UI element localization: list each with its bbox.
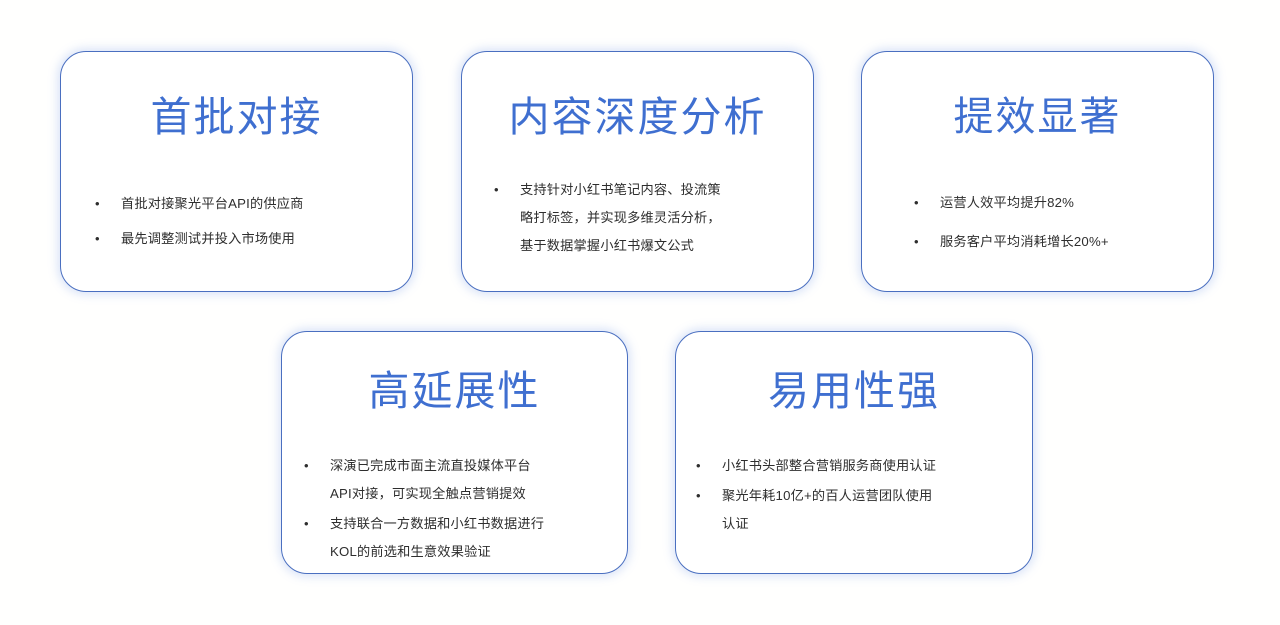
card-title: 首批对接 bbox=[151, 97, 323, 138]
feature-card-ease-of-use[interactable]: 易用性强 • 小红书头部整合营销服务商使用认证 • 聚光年耗10亿+的百人运营团… bbox=[675, 331, 1033, 574]
bullet-dot-icon: • bbox=[304, 510, 330, 538]
list-item-text: 首批对接聚光平台API的供应商 bbox=[121, 190, 412, 218]
bullet-dot-icon: • bbox=[914, 189, 940, 217]
list-item: • 聚光年耗10亿+的百人运营团队使用 认证 bbox=[696, 482, 1032, 538]
feature-card-first-integration[interactable]: 首批对接 • 首批对接聚光平台API的供应商 • 最先调整测试并投入市场使用 bbox=[60, 51, 413, 292]
list-item: • 小红书头部整合营销服务商使用认证 bbox=[696, 452, 1032, 480]
list-item-text: 深演已完成市面主流直投媒体平台 API对接，可实现全触点营销提效 bbox=[330, 452, 627, 508]
list-item-text: 运营人效平均提升82% bbox=[940, 189, 1213, 217]
list-item: • 支持联合一方数据和小红书数据进行 KOL的前选和生意效果验证 bbox=[304, 510, 627, 566]
list-item-text: 支持联合一方数据和小红书数据进行 KOL的前选和生意效果验证 bbox=[330, 510, 627, 566]
list-item: • 运营人效平均提升82% bbox=[914, 189, 1213, 217]
card-title: 提效显著 bbox=[954, 97, 1122, 137]
list-item-text: 最先调整测试并投入市场使用 bbox=[121, 225, 412, 253]
list-item: • 首批对接聚光平台API的供应商 bbox=[95, 190, 412, 218]
bullet-dot-icon: • bbox=[914, 228, 940, 256]
bullet-dot-icon: • bbox=[95, 190, 121, 218]
card-bullet-list: • 支持针对小红书笔记内容、投流策 略打标签，并实现多维灵活分析， 基于数据掌握… bbox=[462, 176, 813, 262]
feature-card-content-depth-analysis[interactable]: 内容深度分析 • 支持针对小红书笔记内容、投流策 略打标签，并实现多维灵活分析，… bbox=[461, 51, 814, 292]
card-title: 高延展性 bbox=[369, 371, 541, 412]
bullet-dot-icon: • bbox=[304, 452, 330, 480]
feature-card-efficiency-gains[interactable]: 提效显著 • 运营人效平均提升82% • 服务客户平均消耗增长20%+ bbox=[861, 51, 1214, 292]
list-item: • 深演已完成市面主流直投媒体平台 API对接，可实现全触点营销提效 bbox=[304, 452, 627, 508]
list-item: • 服务客户平均消耗增长20%+ bbox=[914, 228, 1213, 256]
card-bullet-list: • 首批对接聚光平台API的供应商 • 最先调整测试并投入市场使用 bbox=[61, 190, 412, 260]
slide-canvas: 首批对接 • 首批对接聚光平台API的供应商 • 最先调整测试并投入市场使用 内… bbox=[0, 0, 1280, 625]
card-title: 易用性强 bbox=[768, 371, 940, 412]
bullet-dot-icon: • bbox=[494, 176, 520, 204]
list-item-text: 小红书头部整合营销服务商使用认证 bbox=[722, 452, 1032, 480]
list-item-text: 支持针对小红书笔记内容、投流策 略打标签，并实现多维灵活分析， 基于数据掌握小红… bbox=[520, 176, 813, 260]
bullet-dot-icon: • bbox=[95, 225, 121, 253]
card-bullet-list: • 深演已完成市面主流直投媒体平台 API对接，可实现全触点营销提效 • 支持联… bbox=[282, 452, 627, 568]
card-title: 内容深度分析 bbox=[509, 97, 767, 138]
bullet-dot-icon: • bbox=[696, 452, 722, 480]
feature-card-high-extensibility[interactable]: 高延展性 • 深演已完成市面主流直投媒体平台 API对接，可实现全触点营销提效 … bbox=[281, 331, 628, 574]
list-item: • 最先调整测试并投入市场使用 bbox=[95, 225, 412, 253]
list-item-text: 聚光年耗10亿+的百人运营团队使用 认证 bbox=[722, 482, 1032, 538]
card-bullet-list: • 小红书头部整合营销服务商使用认证 • 聚光年耗10亿+的百人运营团队使用 认… bbox=[676, 452, 1032, 540]
list-item: • 支持针对小红书笔记内容、投流策 略打标签，并实现多维灵活分析， 基于数据掌握… bbox=[494, 176, 813, 260]
bullet-dot-icon: • bbox=[696, 482, 722, 510]
list-item-text: 服务客户平均消耗增长20%+ bbox=[940, 228, 1213, 256]
card-bullet-list: • 运营人效平均提升82% • 服务客户平均消耗增长20%+ bbox=[862, 189, 1213, 267]
